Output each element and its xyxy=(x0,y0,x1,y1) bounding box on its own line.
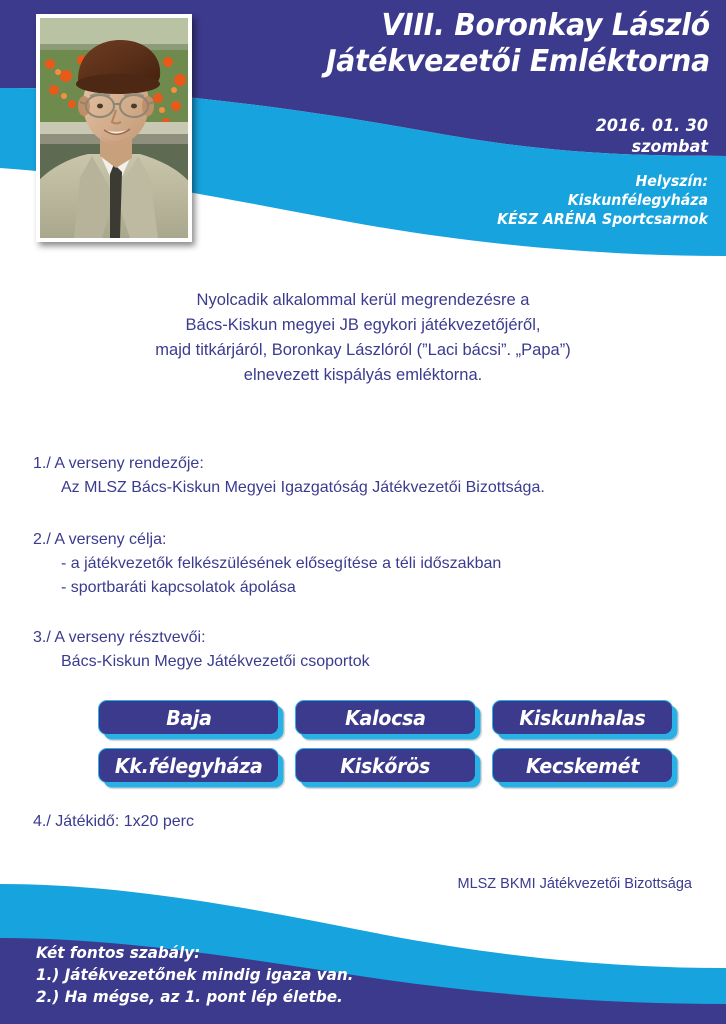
event-venue-block: Helyszín: Kiskunfélegyháza KÉSZ ARÉNA Sp… xyxy=(388,172,708,229)
signature-line: MLSZ BKMI Játékvezetői Bizottsága xyxy=(457,876,692,892)
portrait-photo-frame xyxy=(36,14,192,242)
portrait-photo xyxy=(40,18,188,238)
footer-heading: Két fontos szabály: xyxy=(36,942,625,964)
footer-rule-1: 1.) Játékvezetőnek mindig igaza van. xyxy=(36,964,625,986)
poster-root: VIII. Boronkay László Játékvezetői Emlék… xyxy=(0,0,726,1024)
section-line: Az MLSZ Bács-Kiskun Megyei Igazgatóság J… xyxy=(61,476,545,500)
team-label: Kiskunhalas xyxy=(519,706,645,730)
team-label: Kiskőrös xyxy=(341,754,431,778)
event-date: 2016. 01. 30 xyxy=(426,116,708,137)
section-organizer: 1./ A verseny rendezője: Az MLSZ Bács-Ki… xyxy=(33,452,545,500)
team-button-baja[interactable]: Baja xyxy=(98,700,279,735)
intro-line: Bács-Kiskun megyei JB egykori játékvezet… xyxy=(0,313,726,338)
event-date-block: 2016. 01. 30 szombat xyxy=(426,116,708,158)
team-button-kiskunhalas[interactable]: Kiskunhalas xyxy=(492,700,673,735)
section-match-time: 4./ Játékidő: 1x20 perc xyxy=(33,810,194,834)
team-label: Kalocsa xyxy=(345,706,426,730)
team-label: Kecskemét xyxy=(526,754,639,778)
event-weekday: szombat xyxy=(426,137,708,158)
portrait-illustration xyxy=(40,18,188,238)
intro-line: majd titkárjáról, Boronkay Lászlóról (”L… xyxy=(0,338,726,363)
intro-line: Nyolcadik alkalommal kerül megrendezésre… xyxy=(0,288,726,313)
footer-rule-2: 2.) Ha mégse, az 1. pont lép életbe. xyxy=(36,986,625,1008)
poster-title: VIII. Boronkay László Játékvezetői Emlék… xyxy=(270,8,710,80)
title-line-1: VIII. Boronkay László xyxy=(296,8,710,44)
intro-paragraph: Nyolcadik alkalommal kerül megrendezésre… xyxy=(0,288,726,388)
footer-rules: Két fontos szabály: 1.) Játékvezetőnek m… xyxy=(36,942,656,1008)
section-line: - a játékvezetők felkészülésének elősegí… xyxy=(61,552,501,576)
team-label: Kk.félegyháza xyxy=(115,754,263,778)
section-heading: 1./ A verseny rendezője: xyxy=(33,452,545,476)
team-label: Baja xyxy=(166,706,212,730)
intro-line: elnevezett kispályás emléktorna. xyxy=(0,363,726,388)
venue-city: Kiskunfélegyháza xyxy=(388,191,708,210)
venue-hall: KÉSZ ARÉNA Sportcsarnok xyxy=(388,210,708,229)
team-button-kecskemet[interactable]: Kecskemét xyxy=(492,748,673,783)
venue-label: Helyszín: xyxy=(388,172,708,191)
section-line: Bács-Kiskun Megye Játékvezetői csoportok xyxy=(61,650,370,674)
team-button-kalocsa[interactable]: Kalocsa xyxy=(295,700,476,735)
section-goal: 2./ A verseny célja: - a játékvezetők fe… xyxy=(33,528,501,600)
team-button-kkfelegyhaza[interactable]: Kk.félegyháza xyxy=(98,748,279,783)
team-button-kiskoros[interactable]: Kiskőrös xyxy=(295,748,476,783)
section-heading: 2./ A verseny célja: xyxy=(33,528,501,552)
section-heading: 4./ Játékidő: 1x20 perc xyxy=(33,810,194,834)
section-heading: 3./ A verseny résztvevői: xyxy=(33,626,370,650)
team-button-grid: Baja Kalocsa Kiskunhalas Kk.félegyháza K… xyxy=(98,700,680,788)
title-line-2: Játékvezetői Emléktorna xyxy=(296,44,710,80)
section-participants: 3./ A verseny résztvevői: Bács-Kiskun Me… xyxy=(33,626,370,674)
section-line: - sportbaráti kapcsolatok ápolása xyxy=(61,576,501,600)
